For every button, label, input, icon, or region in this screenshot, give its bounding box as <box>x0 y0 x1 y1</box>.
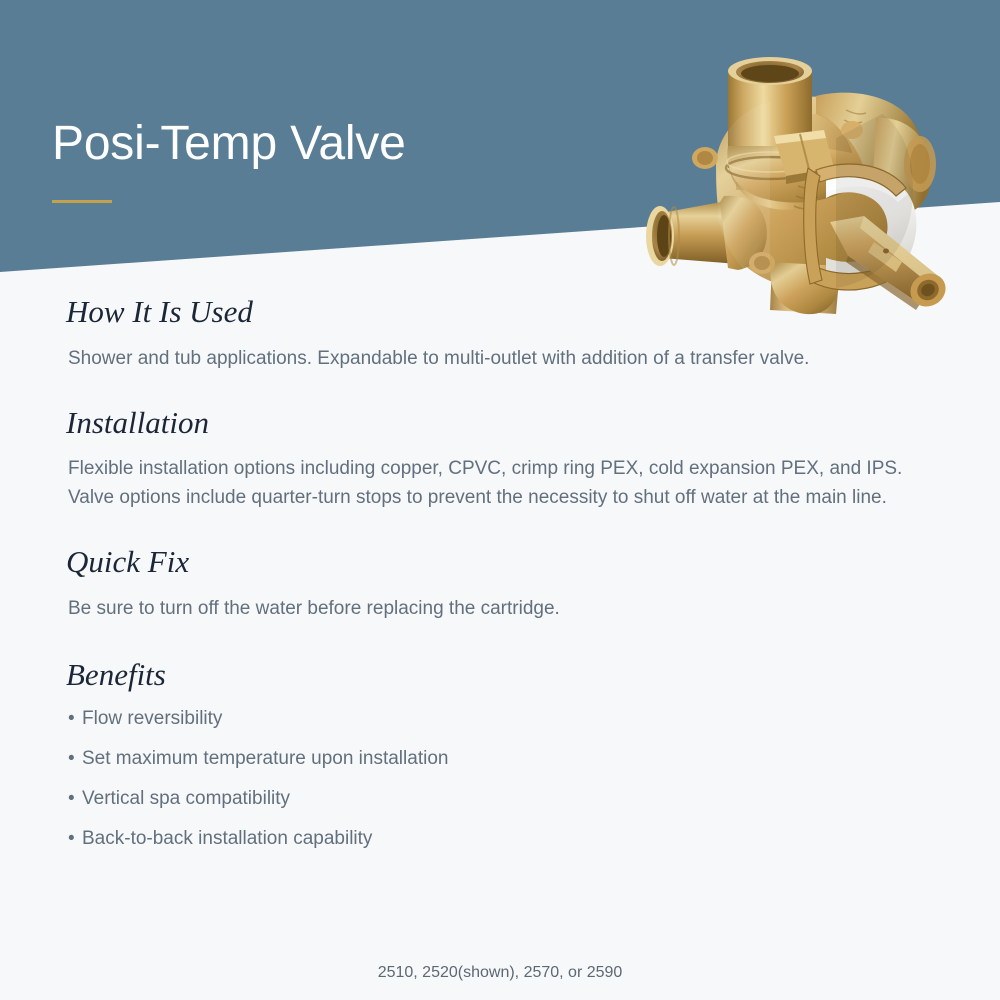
list-item-label: Set maximum temperature upon installatio… <box>82 748 448 769</box>
content-area: How It Is Used Shower and tub applicatio… <box>0 282 1000 867</box>
heading-installation: Installation <box>66 405 940 441</box>
section-installation: Installation Flexible installation optio… <box>0 405 1000 513</box>
section-benefits: Benefits • Flow reversibility • Set maxi… <box>0 657 1000 851</box>
page-title: Posi-Temp Valve <box>52 118 406 171</box>
list-item: • Set maximum temperature upon installat… <box>68 747 940 771</box>
heading-benefits: Benefits <box>66 657 940 693</box>
list-item-label: Flow reversibility <box>82 708 222 729</box>
list-item: • Flow reversibility <box>68 707 940 731</box>
heading-quick-fix: Quick Fix <box>66 544 940 580</box>
bullet-icon: • <box>68 747 75 771</box>
benefits-list: • Flow reversibility • Set maximum tempe… <box>68 707 940 851</box>
body-quick-fix: Be sure to turn off the water before rep… <box>68 594 930 623</box>
product-valve-image <box>620 18 1000 318</box>
title-accent-rule <box>52 200 112 203</box>
bullet-icon: • <box>68 787 75 811</box>
body-how-it-is-used: Shower and tub applications. Expandable … <box>68 344 930 373</box>
model-numbers-caption: 2510, 2520(shown), 2570, or 2590 <box>0 964 1000 982</box>
body-installation: Flexible installation options including … <box>68 454 930 512</box>
section-quick-fix: Quick Fix Be sure to turn off the water … <box>0 544 1000 623</box>
list-item: • Vertical spa compatibility <box>68 787 940 811</box>
list-item: • Back-to-back installation capability <box>68 827 940 851</box>
bullet-icon: • <box>68 827 75 851</box>
list-item-label: Back-to-back installation capability <box>82 828 372 849</box>
bullet-icon: • <box>68 707 75 731</box>
product-info-page: Posi-Temp Valve <box>0 0 1000 1000</box>
list-item-label: Vertical spa compatibility <box>82 788 290 809</box>
